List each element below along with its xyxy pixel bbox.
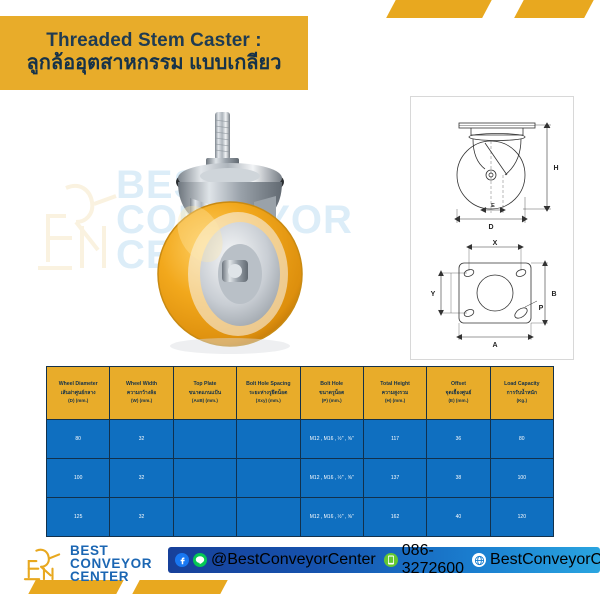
label-B: B — [551, 291, 556, 298]
col-total-height: Total Height ความสูงรวม (H) (mm.) — [363, 367, 426, 420]
website-label: BestConveyorCenter.com — [490, 551, 600, 569]
label-D: D — [488, 224, 493, 231]
label-X: X — [493, 240, 498, 247]
line-id-label: @BestConveyorCenter — [211, 551, 376, 569]
cell-top-plate — [173, 420, 236, 459]
title-banner: Threaded Stem Caster : ลูกล้ออุตสาหกรรม … — [0, 16, 308, 90]
cell-wheel-diameter: 100 — [47, 459, 110, 498]
cell-bolt-hole: M12 , M16 , ½" , ⅝" — [300, 420, 363, 459]
cell-top-plate — [173, 459, 236, 498]
title-thai: ลูกล้ออุตสาหกรรม แบบเกลียว — [26, 52, 281, 75]
cell-wheel-width: 32 — [110, 420, 173, 459]
col-wheel-diameter: Wheel Diameter เส้นผ่าศูนย์กลาง (D) (mm.… — [47, 367, 110, 420]
spec-table: Wheel Diameter เส้นผ่าศูนย์กลาง (D) (mm.… — [46, 366, 554, 537]
cell-total-height: 117 — [363, 420, 426, 459]
cell-wheel-diameter: 125 — [47, 498, 110, 537]
phone-number-label: 086-3272600 — [402, 542, 464, 578]
contact-bar: @BestConveyorCenter 086-3272600 BestConv… — [168, 547, 600, 573]
table-row: 125 32 M12 , M16 , ½" , ⅝" 162 40 120 — [47, 498, 554, 537]
dimension-drawings: H D E X A B Y P — [411, 97, 571, 357]
cell-offset: 38 — [427, 459, 490, 498]
title-english: Threaded Stem Caster : — [46, 31, 262, 52]
table-row: 80 32 M12 , M16 , ½" , ⅝" 117 36 80 — [47, 420, 554, 459]
col-wheel-width: Wheel Width ความกว้างล้อ (W) (mm.) — [110, 367, 173, 420]
cell-top-plate — [173, 498, 236, 537]
col-offset: Offset จุดเยื้องศูนย์ (E) (mm.) — [427, 367, 490, 420]
col-bolt-hole: Bolt Hole ขนาดรูน็อต (P) (mm.) — [300, 367, 363, 420]
logo-mark-icon — [22, 544, 64, 582]
table-row: 100 32 M12 , M16 , ½" , ⅝" 137 38 100 — [47, 459, 554, 498]
top-decoration — [370, 0, 600, 30]
cell-wheel-width: 32 — [110, 498, 173, 537]
phone-icon[interactable] — [384, 553, 398, 567]
product-spec-sheet: Threaded Stem Caster : ลูกล้ออุตสาหกรรม … — [0, 0, 600, 600]
label-H: H — [553, 165, 558, 172]
cell-load-capacity: 100 — [490, 459, 553, 498]
cell-offset: 36 — [427, 420, 490, 459]
cell-bolt-hole-spacing — [237, 459, 300, 498]
technical-drawing-panel: H D E X A B Y P — [410, 96, 574, 360]
col-load-capacity: Load Capacity การรับน้ำหนัก (Kg.) — [490, 367, 553, 420]
cell-bolt-hole-spacing — [237, 420, 300, 459]
cell-load-capacity: 80 — [490, 420, 553, 459]
facebook-icon[interactable] — [175, 553, 189, 567]
label-P: P — [539, 305, 544, 312]
cell-offset: 40 — [427, 498, 490, 537]
cell-wheel-diameter: 80 — [47, 420, 110, 459]
cell-bolt-hole-spacing — [237, 498, 300, 537]
caster-illustration — [126, 102, 326, 354]
cell-wheel-width: 32 — [110, 459, 173, 498]
table-header-row: Wheel Diameter เส้นผ่าศูนย์กลาง (D) (mm.… — [47, 367, 554, 420]
cell-load-capacity: 120 — [490, 498, 553, 537]
cell-total-height: 137 — [363, 459, 426, 498]
line-icon[interactable] — [193, 553, 207, 567]
footer: BEST CONVEYOR CENTER @BestConveyorCenter — [0, 538, 600, 600]
label-Y: Y — [431, 291, 436, 298]
spec-table-wrapper: Wheel Diameter เส้นผ่าศูนย์กลาง (D) (mm.… — [46, 366, 554, 537]
label-A: A — [492, 342, 497, 349]
cell-bolt-hole: M12 , M16 , ½" , ⅝" — [300, 498, 363, 537]
logo-text: BEST CONVEYOR CENTER — [70, 545, 152, 584]
col-top-plate: Top Plate ขนาดแกนแป้น (AxB) (mm.) — [173, 367, 236, 420]
product-photo: BEST CONVEYOR CENTER — [38, 96, 368, 358]
label-E: E — [491, 203, 495, 209]
company-logo[interactable]: BEST CONVEYOR CENTER — [22, 542, 172, 586]
col-bolt-hole-spacing: Bolt Hole Spacing ระยะห่างรูยึดน็อต (Xxy… — [237, 367, 300, 420]
cell-total-height: 162 — [363, 498, 426, 537]
globe-icon[interactable] — [472, 553, 486, 567]
cell-bolt-hole: M12 , M16 , ½" , ⅝" — [300, 459, 363, 498]
